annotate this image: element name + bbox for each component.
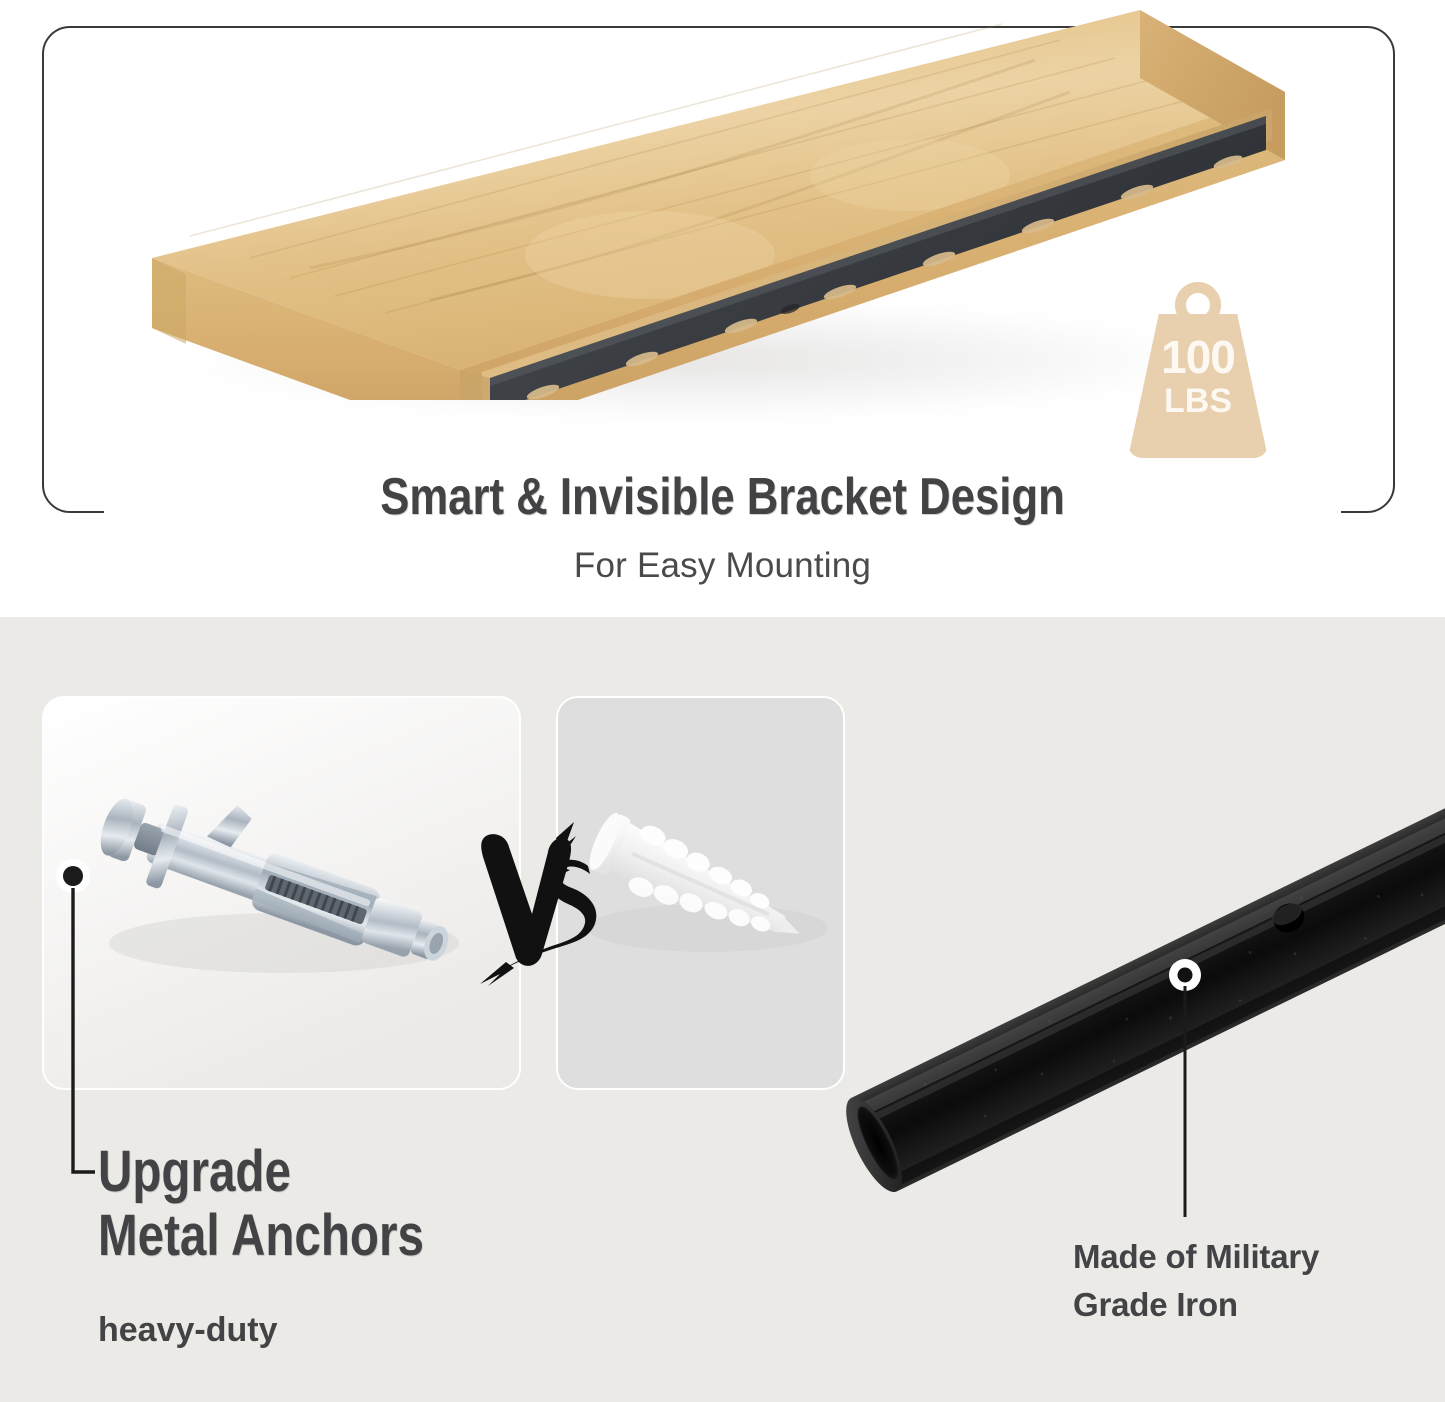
iron-pipe-caption-line1: Made of Military <box>1073 1233 1413 1281</box>
weight-capacity-badge: 100 LBS <box>1128 282 1268 458</box>
weight-value: 100 <box>1128 334 1268 380</box>
iron-pipe-callout-leader <box>1165 955 1205 1220</box>
metal-anchor-callout-leader <box>45 848 165 1188</box>
top-feature-panel: 100 LBS Smart & Invisible Bracket Design… <box>0 0 1445 617</box>
metal-anchor-heading-line1: Upgrade <box>98 1140 606 1204</box>
weight-unit: LBS <box>1128 384 1268 418</box>
iron-pipe-caption-line2: Grade Iron <box>1073 1281 1413 1329</box>
product-feature-infographic: 100 LBS Smart & Invisible Bracket Design… <box>0 0 1445 1402</box>
headline-band: Smart & Invisible Bracket Design <box>0 466 1445 538</box>
metal-anchor-heading: Upgrade Metal Anchors <box>98 1140 718 1268</box>
weight-badge-text: 100 LBS <box>1128 334 1268 418</box>
iron-pipe-caption: Made of Military Grade Iron <box>1073 1233 1413 1329</box>
metal-anchor-subtext: heavy-duty <box>98 1311 278 1350</box>
iron-pipe-image <box>820 690 1445 1240</box>
page-title: Smart & Invisible Bracket Design <box>116 466 1330 528</box>
page-subtitle: For Easy Mounting <box>0 546 1445 586</box>
vs-brush-icon <box>470 818 610 988</box>
metal-anchor-heading-line2: Metal Anchors <box>98 1204 606 1268</box>
